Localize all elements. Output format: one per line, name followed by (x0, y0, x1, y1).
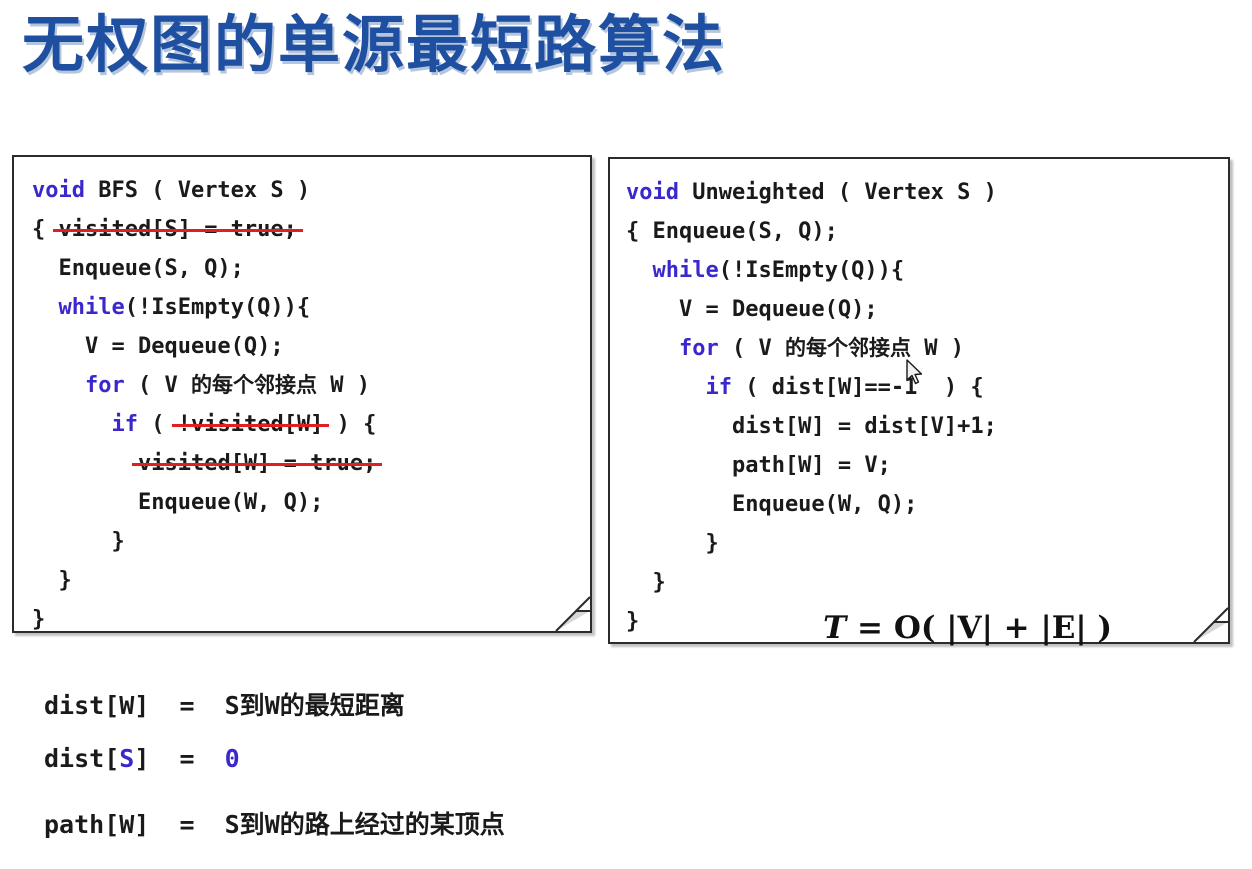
definition-d2-seg-3: 的路上经过的某顶点 (280, 810, 505, 839)
code-line-l5-seg-0 (32, 373, 85, 398)
code-line-r2-seg-1: while (653, 258, 719, 283)
code-line-l3-seg-2: (!IsEmpty(Q)){ (125, 295, 310, 320)
definition-d0-seg-1: 到 (240, 691, 265, 720)
code-line-l3-seg-1: while (59, 295, 125, 320)
code-line-l1-seg-1: visited[S] = true; (59, 210, 297, 249)
code-line-l4-seg-0: V = Dequeue(Q); (32, 334, 284, 359)
code-line-r2-seg-2: (!IsEmpty(Q)){ (719, 258, 904, 283)
code-line: while(!IsEmpty(Q)){ (32, 288, 590, 327)
definition-d1-seg-1: S (119, 744, 134, 773)
code-line-r5-seg-0 (626, 375, 705, 400)
code-line-l0-seg-0: void (32, 178, 85, 203)
code-line-r4-seg-0 (626, 336, 679, 361)
code-line-l8-seg-0: Enqueue(W, Q); (32, 490, 323, 515)
code-line-l11-seg-0: } (32, 607, 45, 632)
definition-d2-seg-1: 到 (240, 810, 265, 839)
code-line-r5-seg-2: ( dist[W]==-1 ) { (732, 375, 984, 400)
code-line: if ( dist[W]==-1 ) { (626, 368, 1228, 407)
code-line-r5-seg-1: if (705, 375, 732, 400)
definition-d1-seg-3: 0 (225, 744, 240, 773)
code-line-l9-seg-0: } (32, 529, 125, 554)
code-line-l5-seg-1: for (85, 373, 125, 398)
definition-d0-seg-0: dist[W] = S (44, 691, 240, 720)
code-line-l7-seg-0 (32, 451, 138, 476)
code-line: V = Dequeue(Q); (32, 327, 590, 366)
code-line-r0-seg-0: void (626, 180, 679, 205)
code-box-unweighted: void Unweighted ( Vertex S ){ Enqueue(S,… (608, 157, 1230, 644)
code-line: void BFS ( Vertex S ) (32, 171, 590, 210)
code-line: dist[W] = dist[V]+1; (626, 407, 1228, 446)
definition-d2-seg-2: W (265, 810, 280, 839)
code-line-r3-seg-0: V = Dequeue(Q); (626, 297, 878, 322)
code-line: visited[W] = true; (32, 444, 590, 483)
code-line: if ( !visited[W] ) { (32, 405, 590, 444)
code-line-l5-seg-3: 的每个邻接点 (191, 373, 317, 397)
code-line: } (32, 522, 590, 561)
code-line-r4-seg-2: ( V (719, 336, 785, 361)
complexity-formula: T = O( |V| + |E| ) (780, 574, 1112, 682)
code-line-l0-seg-1: BFS ( Vertex S ) (85, 178, 310, 203)
definition-d0-seg-3: 的最短距离 (280, 691, 405, 720)
code-listing-bfs: void BFS ( Vertex S ){ visited[S] = true… (14, 157, 590, 639)
code-box-bfs: void BFS ( Vertex S ){ visited[S] = true… (12, 155, 592, 633)
code-line: } (626, 524, 1228, 563)
definition-d0-seg-2: W (265, 691, 280, 720)
code-line-l6-seg-3: !visited[W] (178, 405, 324, 444)
code-line-r1-seg-0: { Enqueue(S, Q); (626, 219, 838, 244)
code-line-r10-seg-0: } (626, 570, 666, 595)
code-line-r4-seg-3: 的每个邻接点 (785, 336, 911, 360)
code-line: { Enqueue(S, Q); (626, 212, 1228, 251)
complexity-eq: = (846, 610, 894, 646)
code-line: Enqueue(W, Q); (32, 483, 590, 522)
code-line: Enqueue(S, Q); (32, 249, 590, 288)
code-line: path[W] = V; (626, 446, 1228, 485)
code-line-r4-seg-1: for (679, 336, 719, 361)
code-line: for ( V 的每个邻接点 W ) (32, 366, 590, 405)
code-line: } (32, 600, 590, 639)
complexity-bigo: O( |V| + |E| ) (894, 610, 1112, 646)
definition-d1-seg-0: dist[ (44, 744, 119, 773)
code-line: } (32, 561, 590, 600)
code-line: Enqueue(W, Q); (626, 485, 1228, 524)
code-line-l6-seg-4: ) { (323, 412, 376, 437)
code-line-r7-seg-0: path[W] = V; (626, 453, 891, 478)
complexity-lhs: T (823, 610, 846, 646)
code-line: V = Dequeue(Q); (626, 290, 1228, 329)
code-listing-unweighted: void Unweighted ( Vertex S ){ Enqueue(S,… (610, 159, 1228, 641)
definition-d1-seg-2: ] = (134, 744, 224, 773)
code-line-l7-seg-1: visited[W] = true; (138, 444, 376, 483)
code-line-l6-seg-0 (32, 412, 111, 437)
code-line-r11-seg-0: } (626, 609, 639, 634)
code-line-r8-seg-0: Enqueue(W, Q); (626, 492, 917, 517)
code-line: void Unweighted ( Vertex S ) (626, 173, 1228, 212)
code-line-l5-seg-2: ( V (125, 373, 191, 398)
code-line-l2-seg-0: Enqueue(S, Q); (32, 256, 244, 281)
code-line: for ( V 的每个邻接点 W ) (626, 329, 1228, 368)
code-line-r9-seg-0: } (626, 531, 719, 556)
definition-d2-seg-0: path[W] = S (44, 810, 240, 839)
code-line: while(!IsEmpty(Q)){ (626, 251, 1228, 290)
code-line-r0-seg-1: Unweighted ( Vertex S ) (679, 180, 997, 205)
code-line-l3-seg-0 (32, 295, 59, 320)
code-line-r6-seg-0: dist[W] = dist[V]+1; (626, 414, 997, 439)
code-line: { visited[S] = true; (32, 210, 590, 249)
code-line-l5-seg-4: W ) (317, 373, 370, 398)
code-line-l6-seg-1: if (111, 412, 138, 437)
definition-dist-w: dist[W] = S到W的最短距离 (44, 686, 405, 722)
code-line-r4-seg-4: W ) (911, 336, 964, 361)
definition-dist-s: dist[S] = 0 (44, 744, 240, 773)
code-line-l10-seg-0: } (32, 568, 72, 593)
code-line-r2-seg-0 (626, 258, 653, 283)
definition-path-w: path[W] = S到W的路上经过的某顶点 (44, 805, 505, 841)
page-title: 无权图的单源最短路算法 (22, 8, 726, 82)
